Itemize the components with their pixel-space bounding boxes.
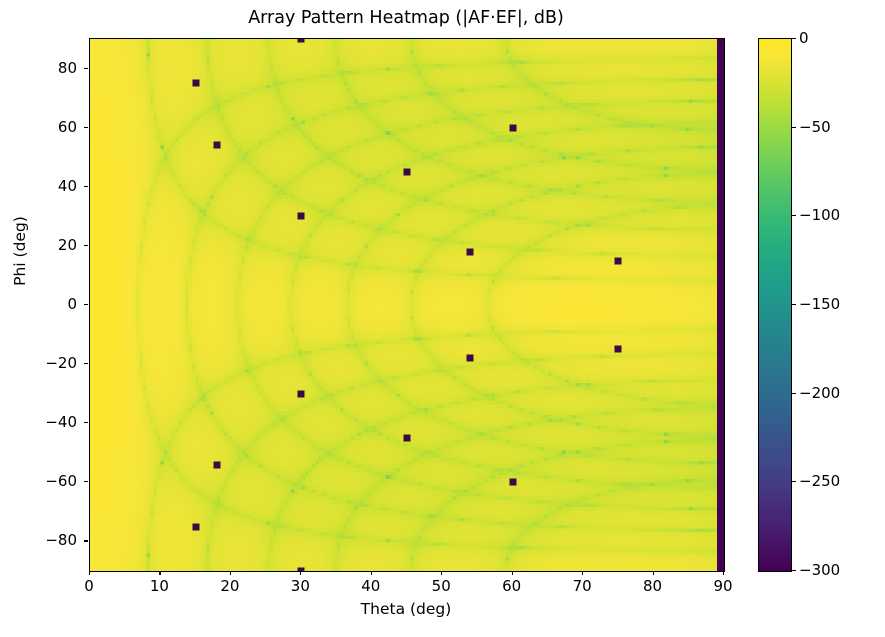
- x-tick-label: 0: [59, 577, 119, 595]
- x-tick-label: 20: [200, 577, 260, 595]
- colorbar-tick-mark: [792, 127, 796, 128]
- x-tick-mark: [582, 571, 583, 575]
- x-tick-mark: [723, 571, 724, 575]
- x-tick-label: 80: [623, 577, 683, 595]
- colorbar-tick-mark: [792, 570, 796, 571]
- x-tick-mark: [441, 571, 442, 575]
- y-tick-mark: [84, 422, 88, 423]
- heatmap-axes[interactable]: [89, 38, 725, 572]
- y-tick-label: −40: [0, 413, 77, 431]
- x-tick-label: 70: [552, 577, 612, 595]
- colorbar-tick-label: −250: [799, 472, 840, 490]
- y-tick-label: 60: [0, 118, 77, 136]
- y-tick-mark: [84, 304, 88, 305]
- y-axis-label: Phi (deg): [11, 141, 29, 361]
- y-tick-mark: [84, 481, 88, 482]
- x-tick-mark: [230, 571, 231, 575]
- y-tick-mark: [84, 186, 88, 187]
- x-tick-label: 40: [341, 577, 401, 595]
- x-tick-mark: [371, 571, 372, 575]
- y-tick-mark: [84, 127, 88, 128]
- x-tick-label: 60: [482, 577, 542, 595]
- y-tick-label: 80: [0, 59, 77, 77]
- x-tick-label: 90: [693, 577, 753, 595]
- colorbar-tick-mark: [792, 215, 796, 216]
- colorbar[interactable]: [758, 38, 792, 572]
- y-tick-label: −80: [0, 531, 77, 549]
- x-tick-mark: [512, 571, 513, 575]
- x-tick-mark: [159, 571, 160, 575]
- y-tick-mark: [84, 540, 88, 541]
- colorbar-tick-mark: [792, 481, 796, 482]
- y-tick-mark: [84, 245, 88, 246]
- colorbar-tick-label: −50: [799, 118, 831, 136]
- colorbar-tick-label: −200: [799, 384, 840, 402]
- colorbar-tick-label: −100: [799, 206, 840, 224]
- x-axis-label: Theta (deg): [89, 600, 723, 618]
- colorbar-tick-mark: [792, 304, 796, 305]
- x-tick-mark: [653, 571, 654, 575]
- x-tick-label: 50: [411, 577, 471, 595]
- colorbar-tick-label: 0: [799, 29, 809, 47]
- x-tick-mark: [300, 571, 301, 575]
- x-tick-label: 30: [270, 577, 330, 595]
- y-tick-mark: [84, 68, 88, 69]
- y-tick-label: −60: [0, 472, 77, 490]
- x-tick-label: 10: [129, 577, 189, 595]
- y-tick-mark: [84, 363, 88, 364]
- figure-canvas: Array Pattern Heatmap (|AF·EF|, dB) 0102…: [0, 0, 885, 637]
- colorbar-tick-mark: [792, 38, 796, 39]
- heatmap-image: [90, 39, 724, 571]
- colorbar-tick-mark: [792, 393, 796, 394]
- colorbar-tick-label: −300: [799, 561, 840, 579]
- colorbar-tick-label: −150: [799, 295, 840, 313]
- chart-title: Array Pattern Heatmap (|AF·EF|, dB): [89, 8, 723, 28]
- x-tick-mark: [89, 571, 90, 575]
- colorbar-gradient: [759, 39, 791, 571]
